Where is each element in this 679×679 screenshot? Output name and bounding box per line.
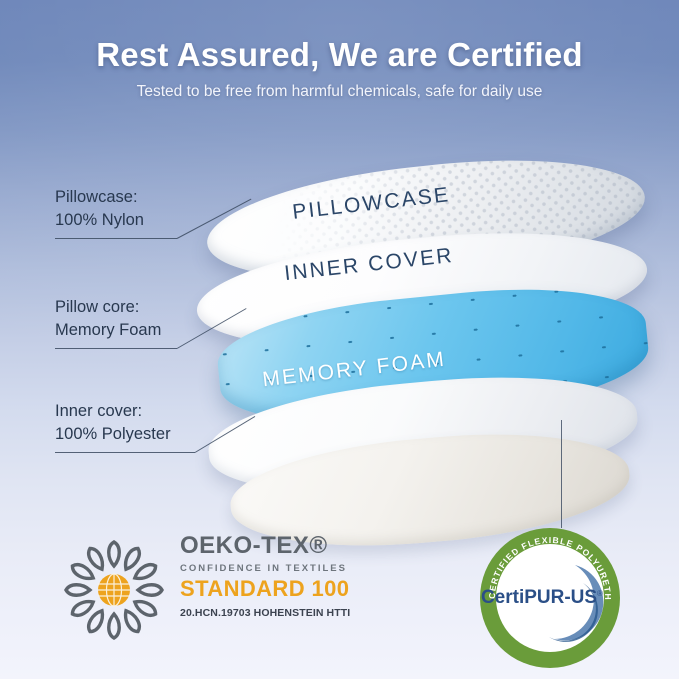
annotation-inner-cover-line1: Inner cover: <box>55 400 171 423</box>
certipur-brand-text: CertiPUR-US <box>481 587 597 608</box>
infographic-poster: Rest Assured, We are Certified Tested to… <box>0 0 679 679</box>
annotation-inner-cover-rule <box>55 452 195 453</box>
oeko-tex-badge: OEKO-TEX® CONFIDENCE IN TEXTILES STANDAR… <box>60 532 360 648</box>
annotation-inner-cover: Inner cover: 100% Polyester <box>55 400 171 446</box>
oeko-tex-brand: OEKO-TEX® <box>180 532 360 560</box>
certipur-registered-mark: ® <box>597 589 603 598</box>
annotation-pillowcase-line1: Pillowcase: <box>55 186 144 209</box>
annotation-pillowcase: Pillowcase: 100% Nylon <box>55 186 144 232</box>
annotation-pillow-core: Pillow core: Memory Foam <box>55 296 161 342</box>
oeko-tex-certificate-number: 20.HCN.19703 HOHENSTEIN HTTI <box>180 607 360 619</box>
annotation-pillowcase-rule <box>55 238 177 239</box>
certipur-leader-line <box>561 420 562 528</box>
oeko-tex-text-block: OEKO-TEX® CONFIDENCE IN TEXTILES STANDAR… <box>180 532 360 619</box>
oeko-tex-standard: STANDARD 100 <box>180 576 360 602</box>
annotation-inner-cover-line2: 100% Polyester <box>55 423 171 446</box>
certipur-us-seal: CONTAINS CERTIFIED FLEXIBLE POLYURETHANE… <box>479 527 621 669</box>
annotation-pillow-core-line2: Memory Foam <box>55 319 161 342</box>
oeko-tex-tagline: CONFIDENCE IN TEXTILES <box>180 563 360 574</box>
annotation-pillowcase-line2: 100% Nylon <box>55 209 144 232</box>
annotation-pillow-core-line1: Pillow core: <box>55 296 161 319</box>
annotation-pillow-core-rule <box>55 348 177 349</box>
oeko-tex-logo-icon <box>60 536 168 644</box>
